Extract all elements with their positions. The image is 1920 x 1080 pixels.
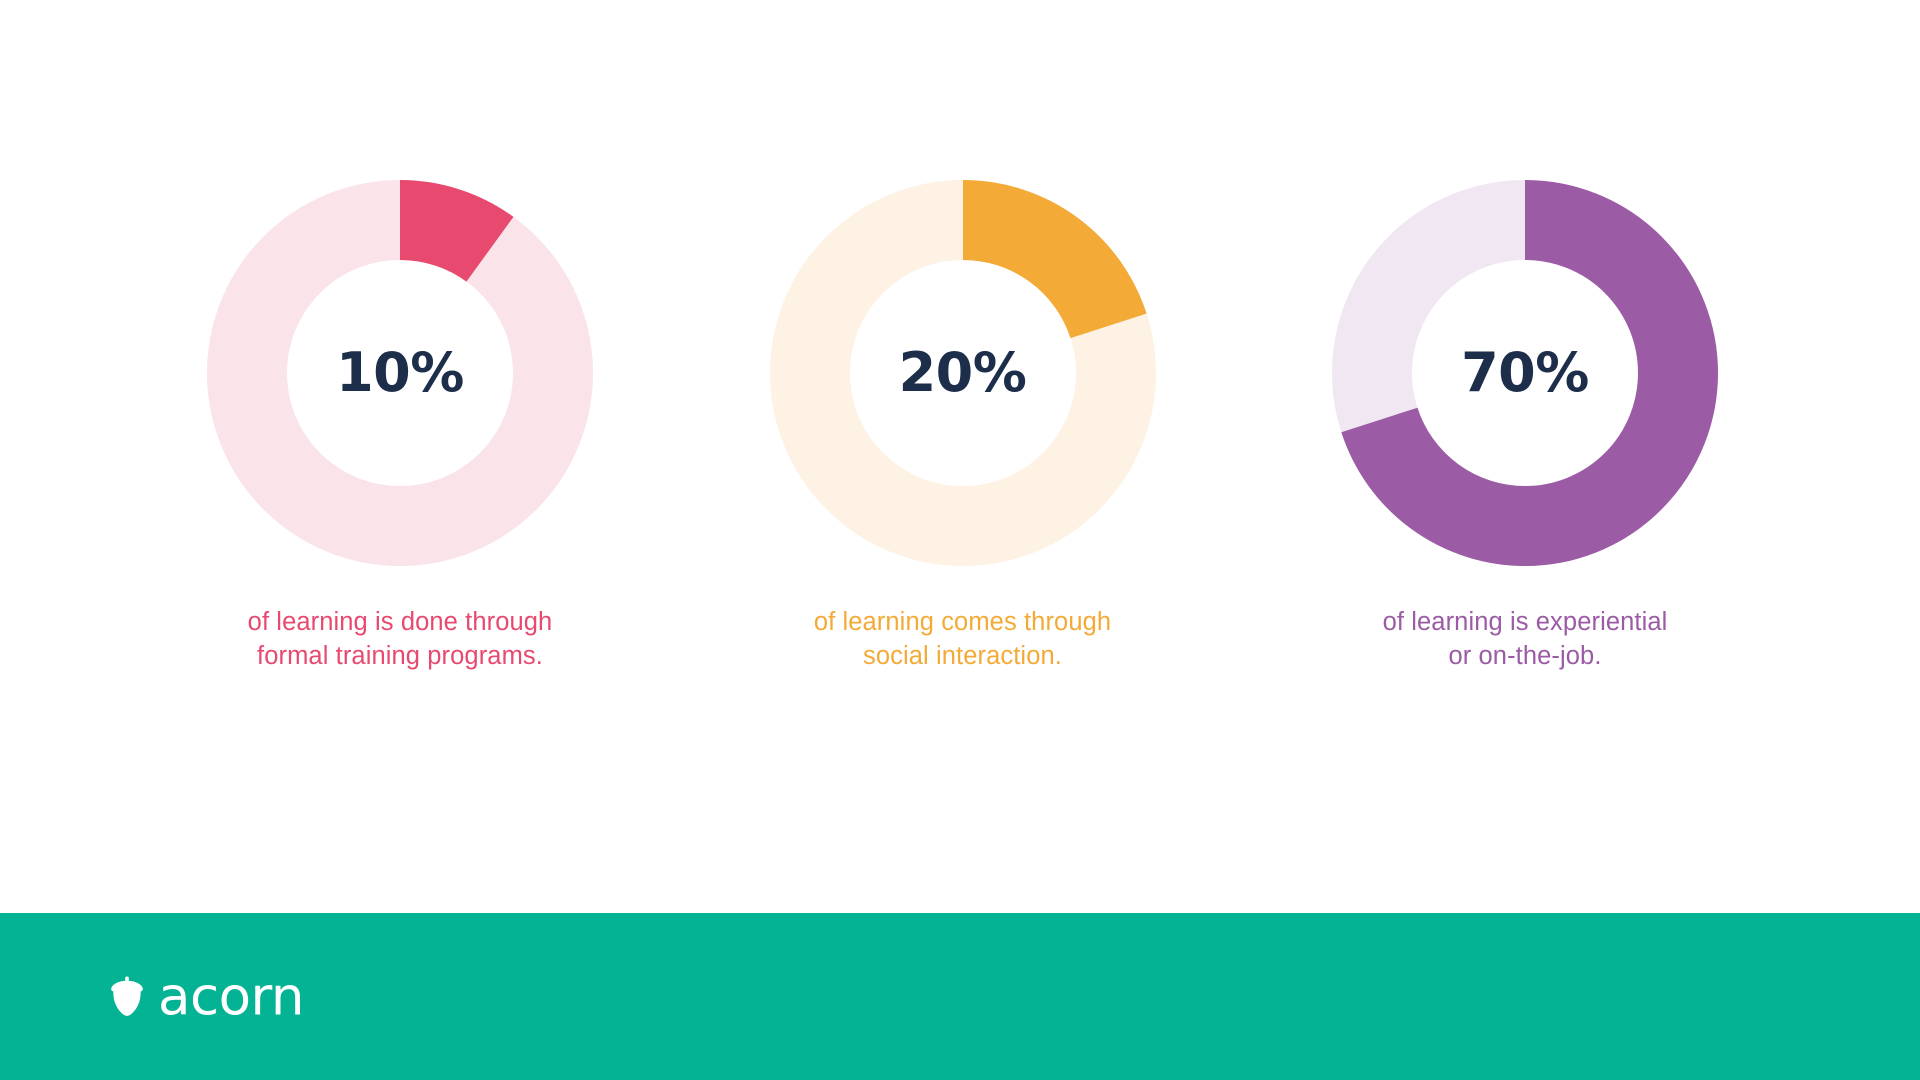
- acorn-icon: [110, 977, 144, 1017]
- caption-formal-training: of learning is done through formal train…: [248, 606, 553, 673]
- donut-chart-social-interaction: 20%: [770, 180, 1156, 566]
- donut-svg-formal-training: [207, 180, 593, 566]
- caption-social-interaction: of learning comes through social interac…: [814, 606, 1111, 673]
- caption-line2-formal-training: formal training programs.: [257, 642, 543, 670]
- donut-svg-experiential: [1332, 180, 1718, 566]
- donut-track-formal-training: [247, 220, 553, 526]
- donut-chart-formal-training: 10%: [207, 180, 593, 566]
- donut-chart-experiential: 70%: [1332, 180, 1718, 566]
- footer-band: acorn: [0, 913, 1920, 1080]
- brand-logo: acorn: [110, 970, 304, 1023]
- stat-card-formal-training: 10% of learning is done through formal t…: [190, 180, 610, 673]
- caption-line1-social-interaction: of learning comes through: [814, 608, 1111, 636]
- stat-card-social-interaction: 20% of learning comes through social int…: [753, 180, 1173, 673]
- donut-chart-group: 10% of learning is done through formal t…: [190, 180, 1735, 673]
- infographic-canvas: 10% of learning is done through formal t…: [0, 0, 1920, 913]
- caption-line1-experiential: of learning is experiential: [1383, 608, 1668, 636]
- stat-card-experiential: 70% of learning is experiential or on-th…: [1315, 180, 1735, 673]
- donut-svg-social-interaction: [770, 180, 1156, 566]
- caption-line2-social-interaction: social interaction.: [863, 642, 1062, 670]
- brand-name: acorn: [158, 970, 304, 1023]
- caption-line2-experiential: or on-the-job.: [1448, 642, 1601, 670]
- caption-line1-formal-training: of learning is done through: [248, 608, 553, 636]
- caption-experiential: of learning is experiential or on-the-jo…: [1383, 606, 1668, 673]
